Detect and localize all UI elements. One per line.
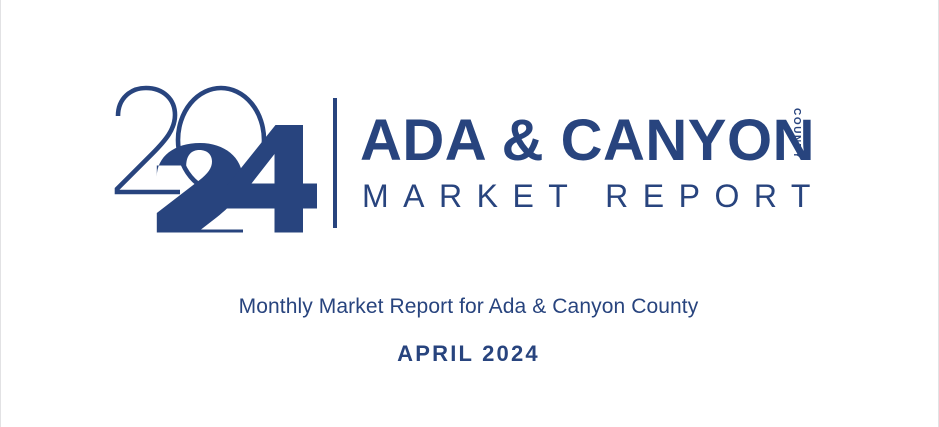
report-cover-page: ADA & CANYON COUNTY MARKET REPORT Monthl…: [0, 0, 939, 427]
logo-title: ADA & CANYON: [360, 112, 815, 170]
logo-wordmark: ADA & CANYON COUNTY MARKET REPORT: [360, 84, 836, 236]
logo-county-tag: COUNTY: [791, 108, 801, 160]
caption-block: Monthly Market Report for Ada & Canyon C…: [1, 296, 936, 365]
logo-subtitle: MARKET REPORT: [362, 180, 825, 212]
report-description: Monthly Market Report for Ada & Canyon C…: [1, 296, 936, 317]
report-date: APRIL 2024: [1, 343, 936, 365]
market-report-logo: ADA & CANYON COUNTY MARKET REPORT: [111, 84, 836, 236]
year-2024-mark: [111, 84, 321, 236]
year-2024-icon: [111, 84, 321, 236]
logo-divider: [333, 98, 337, 228]
